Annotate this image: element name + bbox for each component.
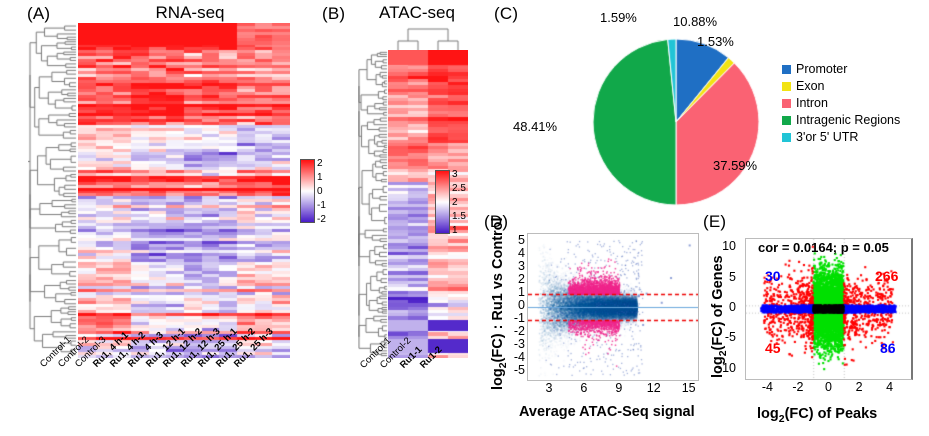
axis-tick: -5 bbox=[714, 330, 736, 344]
axis-tick: -3 bbox=[503, 337, 525, 351]
panel-e-plot-area bbox=[745, 238, 913, 380]
axis-tick: 9 bbox=[610, 381, 628, 395]
panel-a-sample-labels: Control-1Control-2Control-3Ru1, 4 h-1Ru1… bbox=[0, 0, 340, 80]
axis-tick: 10 bbox=[714, 239, 736, 253]
panel-d-scatter-canvas bbox=[528, 234, 698, 380]
axis-tick: -4 bbox=[503, 350, 525, 364]
pie-canvas bbox=[592, 38, 760, 206]
color-key-tick: 1.5 bbox=[452, 212, 466, 222]
axis-tick: 2 bbox=[850, 380, 868, 394]
color-key-tick: 3 bbox=[452, 170, 458, 180]
panel-e-count-top-left: 30 bbox=[765, 268, 781, 284]
color-key-tick: 1 bbox=[317, 173, 323, 183]
panel-a-color-key: 210-1-2 bbox=[300, 157, 334, 223]
axis-tick: 3 bbox=[503, 259, 525, 273]
legend-item: 3'or 5' UTR bbox=[782, 129, 929, 146]
panel-e-label: (E) bbox=[703, 212, 726, 232]
legend-item: Exon bbox=[782, 78, 929, 95]
legend-label: Promoter bbox=[796, 62, 847, 76]
pie-label-utr: 1.59% bbox=[600, 10, 637, 25]
panel-e-count-top-right: 266 bbox=[875, 268, 898, 284]
axis-tick: 15 bbox=[680, 381, 698, 395]
axis-tick: 2 bbox=[503, 272, 525, 286]
panel-a-color-bar bbox=[300, 159, 315, 223]
panel-d-xlabel: Average ATAC-Seq signal bbox=[519, 404, 695, 420]
panel-e-count-bottom-left: 45 bbox=[765, 340, 781, 356]
axis-tick: 5 bbox=[503, 233, 525, 247]
panel-b-row-dendrogram bbox=[358, 50, 388, 358]
panel-e-scatter-canvas bbox=[746, 239, 911, 379]
axis-tick: 6 bbox=[575, 381, 593, 395]
panel-e-correlation-annotation: cor = 0.0164; p = 0.05 bbox=[758, 240, 889, 255]
panel-e-count-bottom-right: 86 bbox=[880, 340, 896, 356]
legend-swatch-icon bbox=[782, 99, 791, 108]
figure-canvas: (A) RNA-seq 210-1-2 Control-1Control-2Co… bbox=[0, 0, 929, 436]
panel-b-sample-labels: Control-1Control-2Ru1-1Ru1-2 bbox=[330, 0, 490, 80]
axis-tick: 4 bbox=[881, 380, 899, 394]
legend-label: Intron bbox=[796, 96, 828, 110]
color-key-tick: -1 bbox=[317, 201, 326, 211]
axis-tick: 0 bbox=[714, 300, 736, 314]
axis-tick: 0 bbox=[820, 380, 838, 394]
pie-label-exon: 1.53% bbox=[697, 34, 734, 49]
legend-label: Exon bbox=[796, 79, 825, 93]
axis-tick: -1 bbox=[503, 311, 525, 325]
axis-tick: -2 bbox=[503, 324, 525, 338]
panel-b-color-key: 32.521.51 bbox=[435, 168, 471, 234]
legend-swatch-icon bbox=[782, 65, 791, 74]
pie-label-intron: 37.59% bbox=[713, 158, 757, 173]
legend-swatch-icon bbox=[782, 116, 791, 125]
color-key-tick: 2.5 bbox=[452, 184, 466, 194]
color-key-tick: 1 bbox=[452, 226, 458, 236]
panel-d-plot-area bbox=[527, 233, 699, 381]
color-key-tick: -2 bbox=[317, 215, 326, 225]
axis-tick: -4 bbox=[758, 380, 776, 394]
pie-label-intragenic: 48.41% bbox=[513, 119, 557, 134]
axis-tick: 0 bbox=[503, 298, 525, 312]
legend-label: 3'or 5' UTR bbox=[796, 130, 858, 144]
panel-b-color-bar bbox=[435, 170, 450, 234]
axis-tick: 12 bbox=[645, 381, 663, 395]
color-key-tick: 0 bbox=[317, 187, 323, 197]
legend-item: Intragenic Regions bbox=[782, 112, 929, 129]
legend-item: Intron bbox=[782, 95, 929, 112]
axis-tick: 5 bbox=[714, 270, 736, 284]
color-key-tick: 2 bbox=[317, 159, 323, 169]
legend-item: Promoter bbox=[782, 61, 929, 78]
panel-e-xlabel: log2(FC) of Peaks bbox=[757, 406, 877, 425]
axis-tick: 1 bbox=[503, 285, 525, 299]
axis-tick: 4 bbox=[503, 246, 525, 260]
legend-label: Intragenic Regions bbox=[796, 113, 900, 127]
legend-swatch-icon bbox=[782, 133, 791, 142]
axis-tick: -2 bbox=[789, 380, 807, 394]
pie-label-promoter: 10.88% bbox=[673, 14, 717, 29]
axis-tick: -10 bbox=[714, 361, 736, 375]
legend-swatch-icon bbox=[782, 82, 791, 91]
panel-c-label: (C) bbox=[494, 4, 518, 24]
panel-c-pie-chart bbox=[592, 38, 760, 206]
panel-a-color-ticks: 210-1-2 bbox=[317, 157, 337, 223]
axis-tick: -5 bbox=[503, 363, 525, 377]
panel-b-color-ticks: 32.521.51 bbox=[452, 168, 476, 234]
axis-tick: 3 bbox=[540, 381, 558, 395]
panel-c-legend: PromoterExonIntronIntragenic Regions3'or… bbox=[782, 61, 929, 146]
color-key-tick: 2 bbox=[452, 198, 458, 208]
